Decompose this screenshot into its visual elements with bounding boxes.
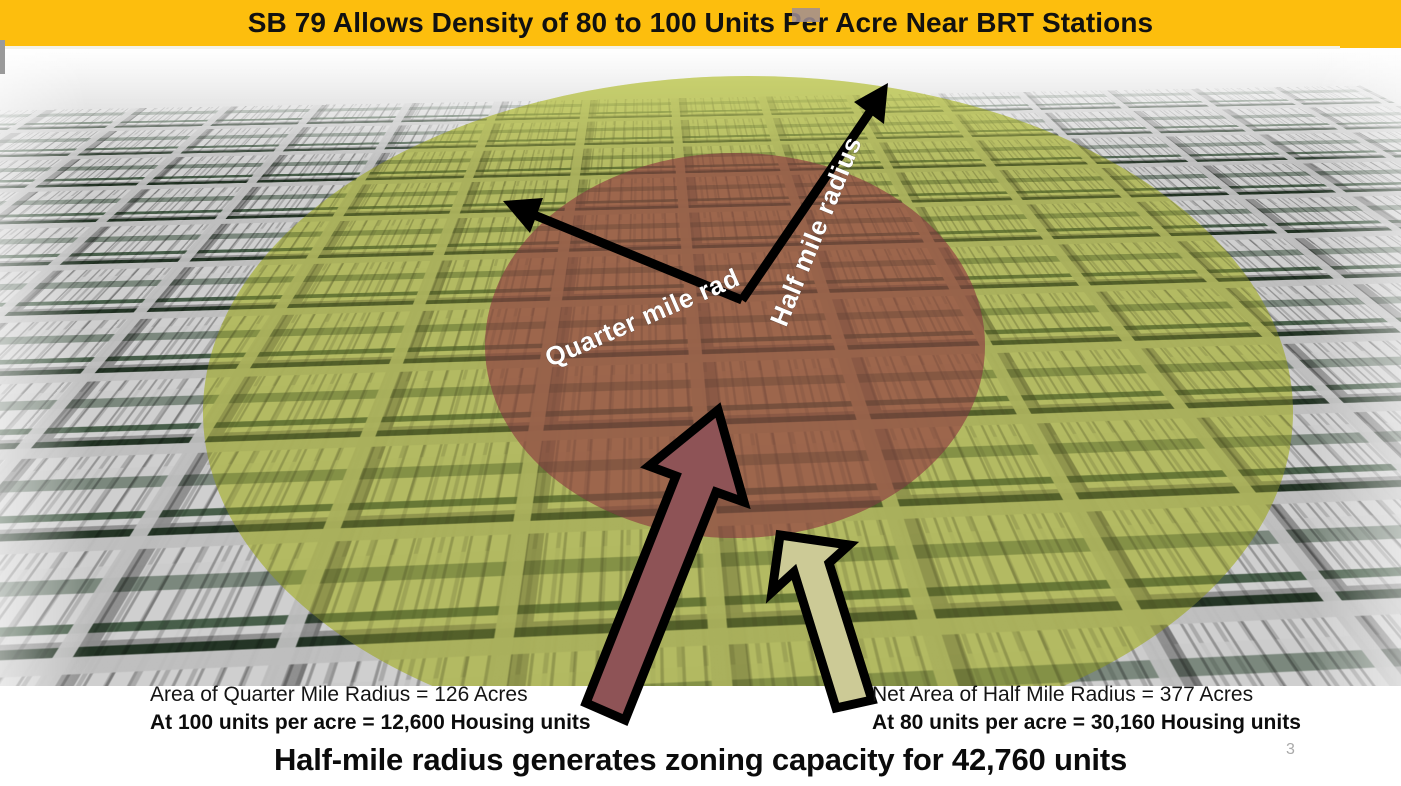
quarter-mile-caption-line2: At 100 units per acre = 12,600 Housing u… — [150, 708, 591, 737]
left-edge-strip — [0, 40, 5, 74]
title-smudge-artifact — [792, 8, 820, 22]
page-number: 3 — [1286, 741, 1295, 759]
half-mile-caption-line2: At 80 units per acre = 30,160 Housing un… — [872, 708, 1301, 737]
quarter-mile-caption: Area of Quarter Mile Radius = 126 Acres … — [150, 681, 591, 737]
half-mile-caption: Net Area of Half Mile Radius = 377 Acres… — [872, 681, 1301, 737]
page-title: SB 79 Allows Density of 80 to 100 Units … — [0, 0, 1401, 48]
half-mile-caption-line1: Net Area of Half Mile Radius = 377 Acres — [872, 681, 1301, 708]
quarter-mile-radius-label: Quarter mile radius — [0, 48, 744, 373]
summary-line: Half-mile radius generates zoning capaci… — [0, 742, 1401, 778]
quarter-mile-caption-line1: Area of Quarter Mile Radius = 126 Acres — [150, 681, 591, 708]
aerial-city-rendering: Quarter mile radius Half mile radius — [0, 48, 1401, 693]
title-banner: SB 79 Allows Density of 80 to 100 Units … — [0, 0, 1401, 48]
half-mile-radius-label: Half mile radius — [764, 132, 868, 330]
slide-canvas: Quarter mile radius Half mile radius Are… — [0, 0, 1401, 786]
radius-arrows-group: Quarter mile radius Half mile radius — [0, 48, 1401, 693]
banner-underline — [0, 46, 1340, 49]
